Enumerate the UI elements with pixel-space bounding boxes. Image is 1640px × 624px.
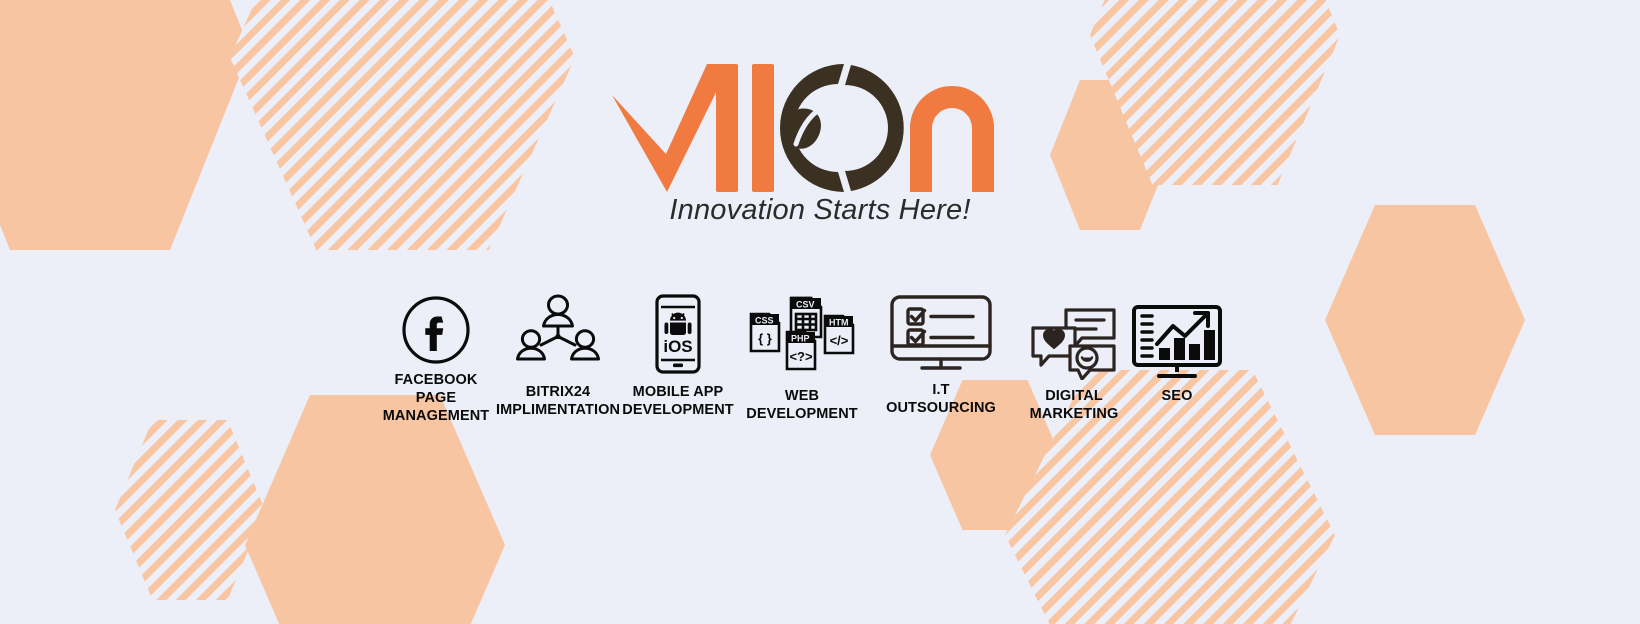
facebook-circle-icon bbox=[400, 294, 472, 366]
service-label: FACEBOOK PAGE MANAGEMENT bbox=[372, 372, 500, 426]
code-files-icon: CSV HTM </> bbox=[747, 294, 857, 374]
hexagon-solid-right bbox=[1325, 205, 1525, 435]
file-css: CSS { } bbox=[751, 314, 779, 351]
file-tag-htm: HTM bbox=[829, 318, 849, 328]
service-item-bitrix24-implimentation[interactable]: BITRIX24 IMPLIMENTATION bbox=[486, 294, 630, 420]
org-chart-people-icon bbox=[515, 294, 601, 366]
service-label: MOBILE APP DEVELOPMENT bbox=[612, 384, 744, 420]
file-tag-css: CSS bbox=[755, 316, 774, 326]
monitor-checklist-icon bbox=[889, 294, 993, 372]
service-label: BITRIX24 IMPLIMENTATION bbox=[486, 384, 630, 420]
hexagon-striped-bottom-left bbox=[115, 420, 265, 600]
speech-bubbles-icon bbox=[1030, 306, 1118, 380]
service-item-web-development[interactable]: CSV HTM </> bbox=[732, 294, 872, 424]
viion-logo-icon bbox=[610, 62, 1030, 192]
services-list: FACEBOOK PAGE MANAGEMENT bbox=[372, 286, 1232, 446]
brand-tagline: Innovation Starts Here! bbox=[0, 194, 1640, 227]
monitor-growth-chart-icon bbox=[1131, 304, 1223, 380]
service-label: I.T OUTSOURCING bbox=[870, 382, 1012, 418]
file-tag-php: PHP bbox=[791, 334, 810, 344]
service-item-facebook-page-management[interactable]: FACEBOOK PAGE MANAGEMENT bbox=[372, 294, 500, 426]
service-item-digital-marketing[interactable]: DIGITAL MARKETING bbox=[1012, 306, 1136, 424]
service-label: WEB DEVELOPMENT bbox=[732, 388, 872, 424]
code-glyph-htm: </> bbox=[830, 333, 849, 348]
service-label: SEO bbox=[1122, 388, 1232, 406]
brand-logo-block: Innovation Starts Here! bbox=[0, 62, 1640, 227]
code-glyph-css: { } bbox=[758, 331, 772, 346]
service-item-it-outsourcing[interactable]: I.T OUTSOURCING bbox=[870, 294, 1012, 418]
smartphone-android-ios-icon: iOS bbox=[649, 294, 707, 374]
code-glyph-php: <?> bbox=[789, 349, 813, 364]
service-item-seo[interactable]: SEO bbox=[1122, 304, 1232, 406]
file-htm: HTM </> bbox=[825, 316, 853, 353]
hero-banner: Innovation Starts Here! FACEBOOK PAGE MA… bbox=[0, 0, 1640, 624]
file-php: PHP <?> bbox=[787, 332, 815, 369]
mobile-os-label: iOS bbox=[663, 337, 692, 356]
service-label: DIGITAL MARKETING bbox=[1012, 388, 1136, 424]
file-tag-csv: CSV bbox=[796, 300, 815, 310]
service-item-mobile-app-development[interactable]: iOS MOBILE APP DEVELOPMENT bbox=[612, 294, 744, 420]
